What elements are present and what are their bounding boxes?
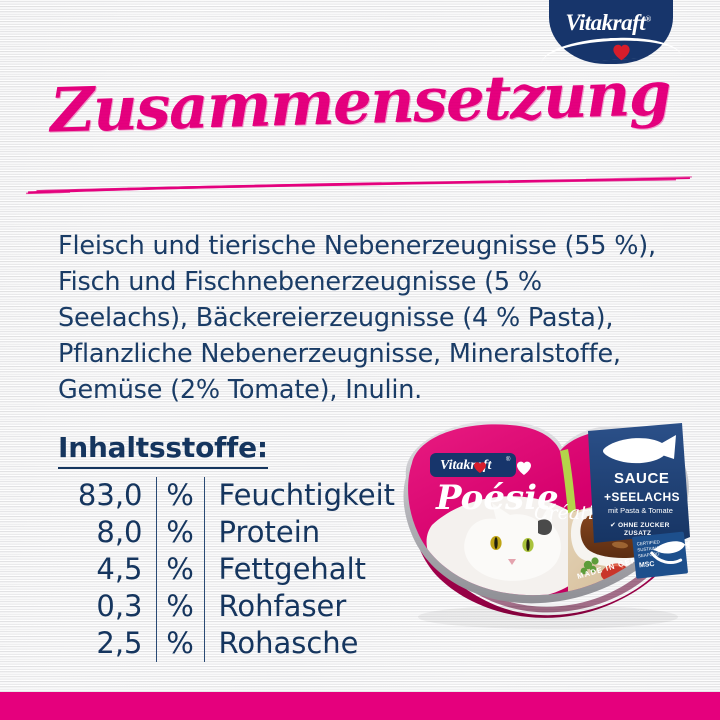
nutrition-label: Rohfaser [204, 588, 395, 625]
nutrition-unit: % [156, 551, 204, 588]
table-row: 4,5 % Fettgehalt [58, 551, 395, 588]
nutrition-unit: % [156, 514, 204, 551]
msc-certification: CERTIFIED SUSTAINABLE SEAFOOD MSC [632, 532, 692, 579]
flag-variant: +SEELACHS [604, 490, 680, 504]
table-row: 8,0 % Protein [58, 514, 395, 551]
page-background: Vitakraft® Zusammensetzung Fleisch und t… [0, 0, 720, 720]
nutrition-value: 0,3 [58, 588, 156, 625]
nutrition-value: 4,5 [58, 551, 156, 588]
brush-underline [26, 175, 692, 194]
nutrition-label: Fettgehalt [204, 551, 395, 588]
nutrition-table: 83,0 % Feuchtigkeit 8,0 % Protein 4,5 % … [58, 477, 395, 662]
bottom-accent-bar [0, 692, 720, 720]
table-row: 2,5 % Rohasche [58, 625, 395, 662]
logo-trademark: ® [645, 14, 650, 23]
product-package-image: Vitakraft ® Poésie Création MADE IN GERM… [392, 417, 712, 635]
table-row: 83,0 % Feuchtigkeit [58, 477, 395, 514]
table-row: 0,3 % Rohfaser [58, 588, 395, 625]
nutrition-value: 2,5 [58, 625, 156, 662]
nutrition-value: 8,0 [58, 514, 156, 551]
nutrition-unit: % [156, 477, 204, 514]
nutrition-label: Protein [204, 514, 395, 551]
logo-wordmark-text: Vitakraft [565, 10, 645, 35]
nutrition-heading: Inhaltsstoffe: [58, 431, 268, 469]
product-brand-tm: ® [506, 456, 511, 463]
claim-check-icon: ✔ [610, 522, 616, 529]
ingredients-text: Fleisch und tierische Nebenerzeugnisse (… [58, 228, 678, 408]
logo-wordmark: Vitakraft® [549, 11, 667, 34]
claim-line1: OHNE ZUCKER [618, 522, 670, 529]
page-title: Zusammensetzung [0, 62, 720, 143]
nutrition-unit: % [156, 625, 204, 662]
package-ground-shadow [418, 605, 678, 629]
product-brand-badge: Vitakraft ® [430, 453, 516, 477]
nutrition-value: 83,0 [58, 477, 156, 514]
flag-detail: mit Pasta & Tomate [608, 506, 673, 515]
vitakraft-logo: Vitakraft® [549, 0, 673, 64]
nutrition-unit: % [156, 588, 204, 625]
flag-title: SAUCE [614, 470, 670, 487]
nutrition-label: Feuchtigkeit [204, 477, 395, 514]
nutrition-label: Rohasche [204, 625, 395, 662]
heart-icon [612, 44, 631, 61]
